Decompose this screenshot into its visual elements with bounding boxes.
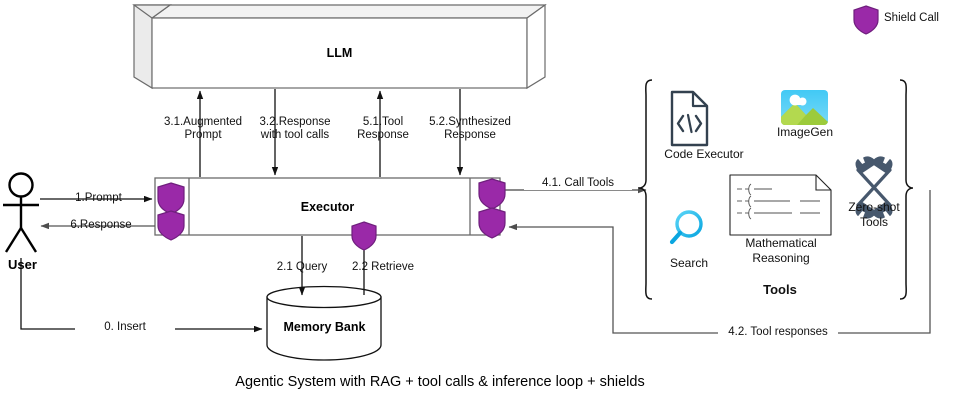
math-document-icon <box>730 175 831 235</box>
tools-brace-right <box>900 80 913 299</box>
code-document-icon <box>672 92 707 145</box>
diagram-svg <box>0 0 970 411</box>
tool-label-mathematical-reasoning: Mathematical Reasoning <box>735 236 827 266</box>
image-gen-icon <box>781 90 828 125</box>
edge-label-retrieve: 2.2 Retrieve <box>337 261 429 274</box>
edge-label-response: 6.Response <box>46 219 156 232</box>
magnifier-icon <box>672 212 701 242</box>
tools-group-title: Tools <box>740 283 820 296</box>
user-label: User <box>0 257 45 272</box>
shield-icon-executor-memory <box>352 222 376 250</box>
edge-label-synthesized-response: 5.2.Synthesized Response <box>408 116 532 142</box>
tool-label-zero-shot-tools: Zero-shot Tools <box>840 200 908 230</box>
edge-insert <box>21 258 262 329</box>
edge-label-prompt: 1.Prompt <box>46 192 151 205</box>
shield-icon-legend <box>854 6 878 34</box>
edge-label-tool-responses: 4.2. Tool responses <box>718 326 838 339</box>
edge-label-insert: 0. Insert <box>75 321 175 334</box>
memory-bank-label: Memory Bank <box>247 320 402 334</box>
tool-label-search: Search <box>658 257 720 270</box>
llm-label: LLM <box>252 46 427 60</box>
tool-label-imagegen: ImageGen <box>770 126 840 139</box>
diagram-canvas: LLM Executor Memory Bank User 1.Prompt 6… <box>0 0 970 411</box>
user-node <box>3 174 39 253</box>
edge-label-call-tools: 4.1. Call Tools <box>524 177 632 190</box>
executor-label: Executor <box>240 200 415 214</box>
tool-label-code-executor: Code Executor <box>650 148 758 161</box>
diagram-caption: Agentic System with RAG + tool calls & i… <box>0 374 880 390</box>
edge-label-query: 2.1 Query <box>258 261 346 274</box>
legend-shield-label: Shield Call <box>884 12 964 25</box>
